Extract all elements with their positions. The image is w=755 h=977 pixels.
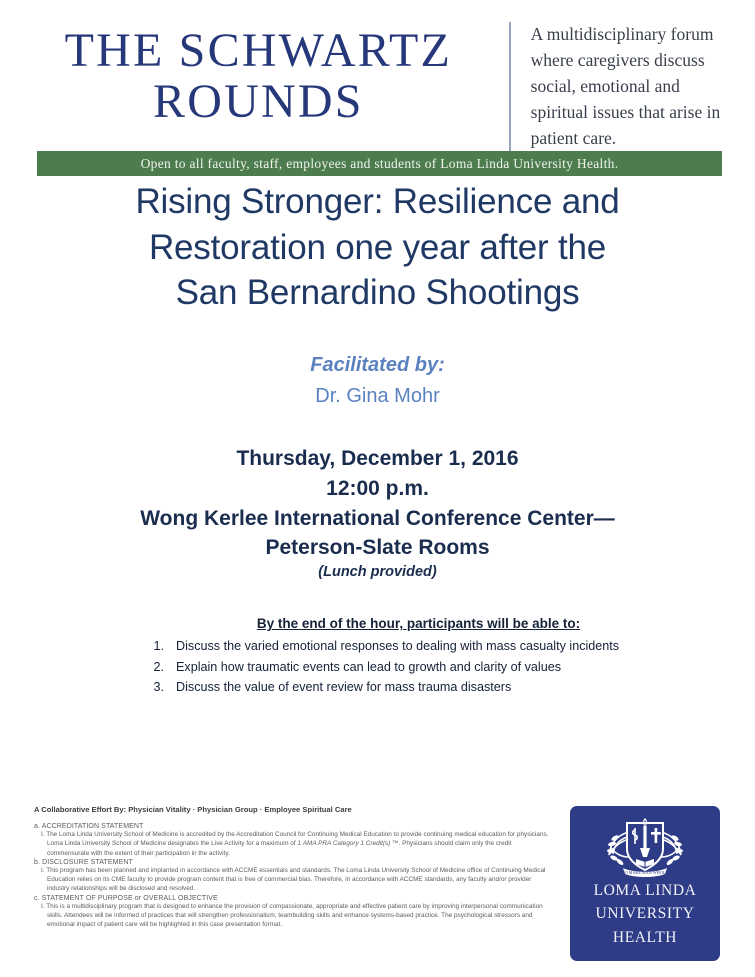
open-to-all-banner: Open to all faculty, staff, employees an… (37, 151, 722, 176)
accreditation-heading: a. ACCREDITATION STATEMENT (34, 823, 554, 830)
objective-text: Discuss the varied emotional responses t… (176, 636, 619, 656)
event-time: 12:00 p.m. (0, 474, 755, 504)
accreditation-section: a. ACCREDITATION STATEMENT I. The Loma L… (34, 823, 554, 858)
objectives-block: By the end of the hour, participants wil… (0, 616, 755, 697)
logo-line-3: HEALTH (570, 929, 720, 947)
flyer-header: THE SCHWARTZ ROUNDS A multidisciplinary … (0, 0, 755, 151)
event-venue-line-2: Peterson-Slate Rooms (0, 533, 755, 563)
disclosure-section: b. DISCLOSURE STATEMENT I. This program … (34, 859, 554, 894)
event-title-line-1: Rising Stronger: Resilience and (34, 179, 721, 225)
list-item: 2. Explain how traumatic events can lead… (142, 657, 715, 677)
accreditation-body: I. The Loma Linda University School of M… (34, 830, 554, 858)
objective-number: 1. (142, 636, 176, 656)
event-date: Thursday, December 1, 2016 (0, 444, 755, 474)
objective-number: 2. (142, 657, 176, 677)
event-details-block: Thursday, December 1, 2016 12:00 p.m. Wo… (0, 444, 755, 580)
brand-title-line-2: ROUNDS (30, 77, 487, 128)
objective-text: Explain how traumatic events can lead to… (176, 657, 561, 677)
accreditation-body-italic: AMA PRA Category 1 Credit(s) (303, 840, 391, 847)
brand-title-line-1: THE SCHWARTZ (30, 26, 487, 77)
crest-motto: TO MAKE MAN WHOLE (622, 870, 668, 875)
event-title-line-3: San Bernardino Shootings (34, 270, 721, 316)
objectives-list: 1. Discuss the varied emotional response… (142, 636, 715, 697)
brand-block: THE SCHWARTZ ROUNDS (30, 22, 487, 128)
collaborative-effort-line: A Collaborative Effort By: Physician Vit… (34, 805, 554, 814)
objective-text: Discuss the value of event review for ma… (176, 677, 511, 697)
list-item: 1. Discuss the varied emotional response… (142, 636, 715, 656)
objectives-heading: By the end of the hour, participants wil… (122, 616, 715, 631)
purpose-body: I. This is a multidisciplinary program t… (34, 902, 554, 930)
disclosure-heading: b. DISCLOSURE STATEMENT (34, 859, 554, 866)
facilitator-name: Dr. Gina Mohr (0, 381, 755, 412)
lunch-note: (Lunch provided) (0, 564, 755, 580)
event-title-line-2: Restoration one year after the (34, 225, 721, 271)
objectives-heading-colon: : (576, 616, 581, 631)
tagline-divider: A multidisciplinary forum where caregive… (509, 22, 725, 151)
fineprint-block: A Collaborative Effort By: Physician Vit… (34, 805, 554, 931)
loma-linda-logo-card: TO MAKE MAN WHOLE LOMA LINDA UNIVERSITY … (570, 806, 720, 961)
purpose-section: c. STATEMENT OF PURPOSE or OVERALL OBJEC… (34, 895, 554, 930)
facilitated-by-label: Facilitated by: (0, 350, 755, 381)
header-tagline: A multidisciplinary forum where caregive… (531, 22, 725, 151)
disclosure-body: I. This program has been planned and imp… (34, 866, 554, 894)
list-item: 3. Discuss the value of event review for… (142, 677, 715, 697)
event-title-block: Rising Stronger: Resilience and Restorat… (34, 179, 721, 316)
logo-line-2: UNIVERSITY (570, 905, 720, 923)
facilitator-block: Facilitated by: Dr. Gina Mohr (0, 350, 755, 412)
university-crest-icon: TO MAKE MAN WHOLE (599, 815, 691, 877)
event-venue-line-1: Wong Kerlee International Conference Cen… (0, 504, 755, 534)
objective-number: 3. (142, 677, 176, 697)
logo-line-1: LOMA LINDA (570, 882, 720, 900)
objectives-heading-text: By the end of the hour, participants wil… (257, 616, 576, 631)
purpose-heading: c. STATEMENT OF PURPOSE or OVERALL OBJEC… (34, 895, 554, 902)
